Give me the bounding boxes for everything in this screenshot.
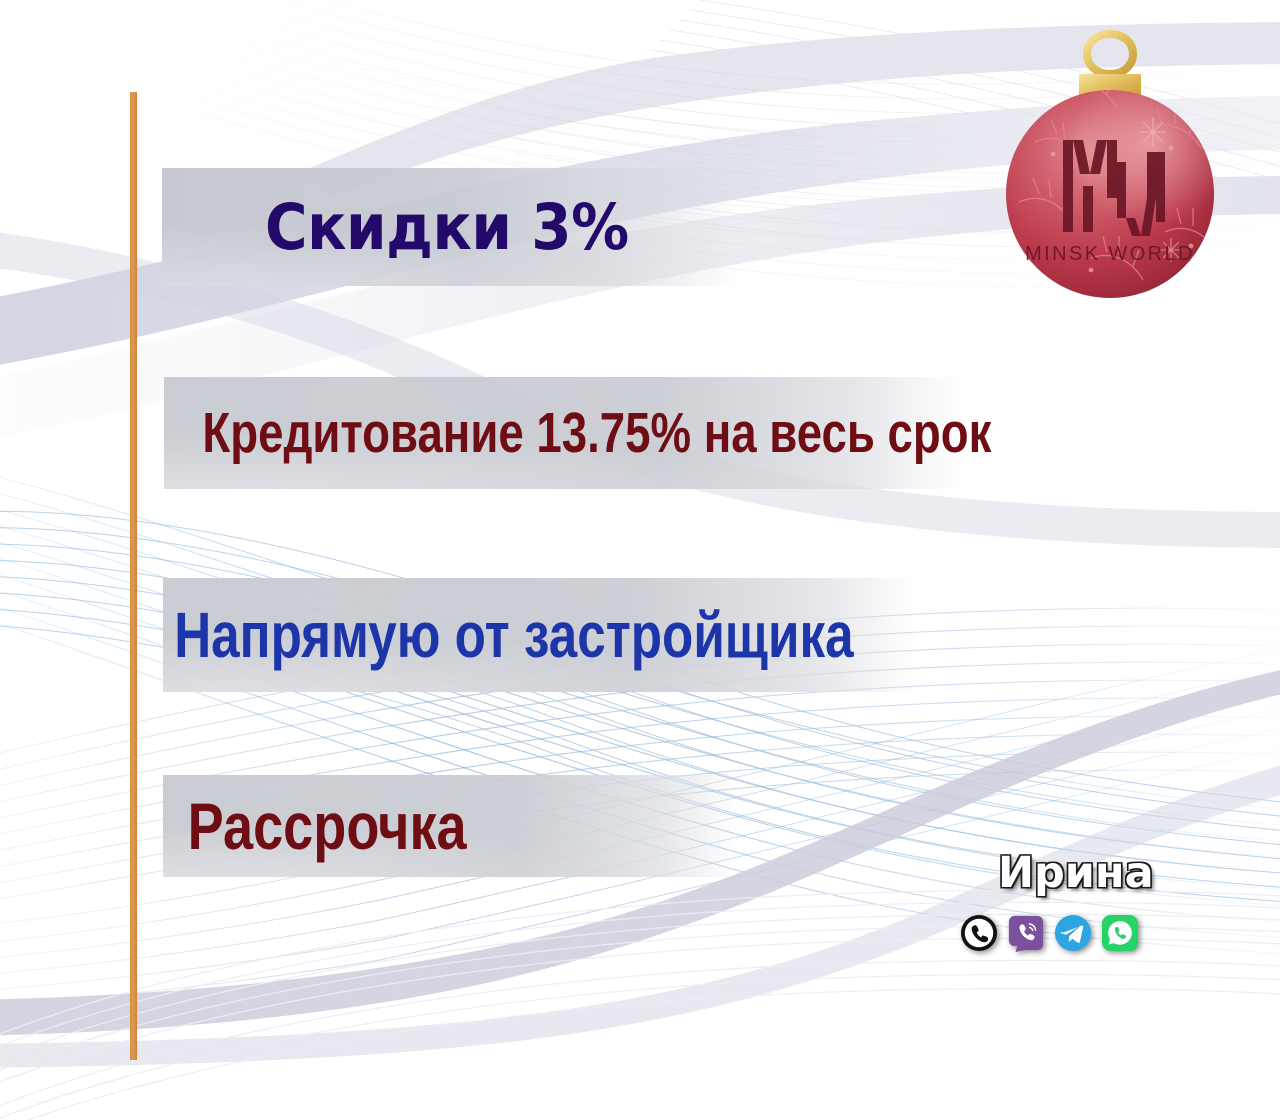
ornament-ball: MINSK WORLD xyxy=(1006,64,1217,298)
ornament-hook xyxy=(1087,34,1133,74)
contact-name: Ирина xyxy=(998,852,1154,895)
offer-banner-credit: Кредитование 13.75% на весь срок xyxy=(164,377,962,489)
offer-banner-direct: Напрямую от застройщика xyxy=(163,578,918,692)
offer-banner-discount: Скидки 3% xyxy=(162,168,740,286)
offer-banner-installment: Рассрочка xyxy=(163,775,738,877)
contact-block: Ирина xyxy=(948,852,1158,960)
slide-canvas: Скидки 3% Кредитование 13.75% на весь ср… xyxy=(0,0,1280,1120)
telegram-icon[interactable] xyxy=(1054,914,1092,952)
logo-brand-text: MINSK WORLD xyxy=(1025,243,1195,265)
viber-icon[interactable] xyxy=(1007,914,1045,952)
phone-icon[interactable] xyxy=(960,914,998,952)
offer-label-direct: Напрямую от застройщика xyxy=(163,603,854,667)
christmas-ornament-logo: MINSK WORLD xyxy=(995,22,1225,312)
whatsapp-icon[interactable] xyxy=(1101,914,1139,952)
offer-label-installment: Рассрочка xyxy=(163,793,467,859)
offer-label-credit: Кредитование 13.75% на весь срок xyxy=(164,405,991,462)
offer-label-discount: Скидки 3% xyxy=(162,196,629,259)
contact-icon-row xyxy=(960,914,1139,952)
accent-vertical-rule xyxy=(130,92,137,1060)
